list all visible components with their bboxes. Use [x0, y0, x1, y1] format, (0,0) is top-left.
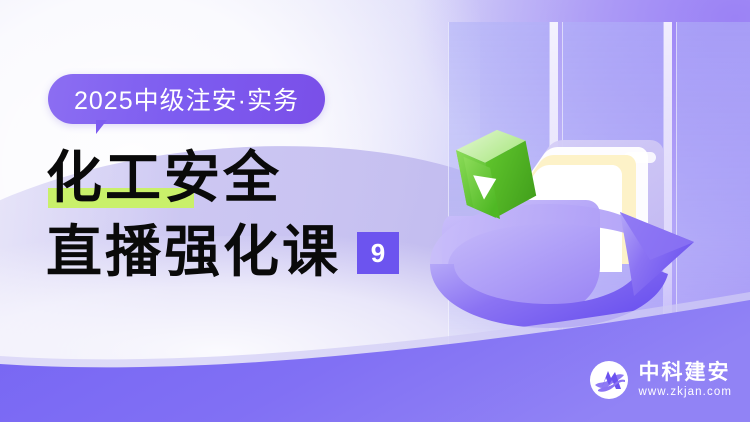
course-tag-pointer: [96, 120, 118, 134]
title-line-1: 化工安全: [46, 146, 466, 212]
brand-url: www.zkjan.com: [638, 385, 732, 400]
course-title-secondary: 直播强化课: [46, 223, 341, 283]
title-block: 化工安全 直播强化课 9: [46, 146, 466, 286]
episode-number-badge: 9: [357, 232, 399, 274]
brand-logo[interactable]: 中科建安 www.zkjan.com: [589, 360, 732, 400]
title-line-2: 直播强化课 9: [46, 220, 466, 286]
brand-name: 中科建安: [638, 361, 732, 385]
brand-logo-text: 中科建安 www.zkjan.com: [638, 361, 732, 400]
mountain-peak-circle-icon: [589, 360, 629, 400]
course-banner: 2025中级注安·实务 化工安全 直播强化课 9 中科建安 www.zkjan: [0, 0, 750, 422]
bottom-wave: [0, 282, 750, 422]
episode-number-label: 9: [371, 240, 385, 266]
course-tag-badge: 2025中级注安·实务: [48, 74, 325, 124]
course-title-primary: 化工安全: [46, 149, 282, 209]
course-tag-label: 2025中级注安·实务: [74, 81, 299, 117]
